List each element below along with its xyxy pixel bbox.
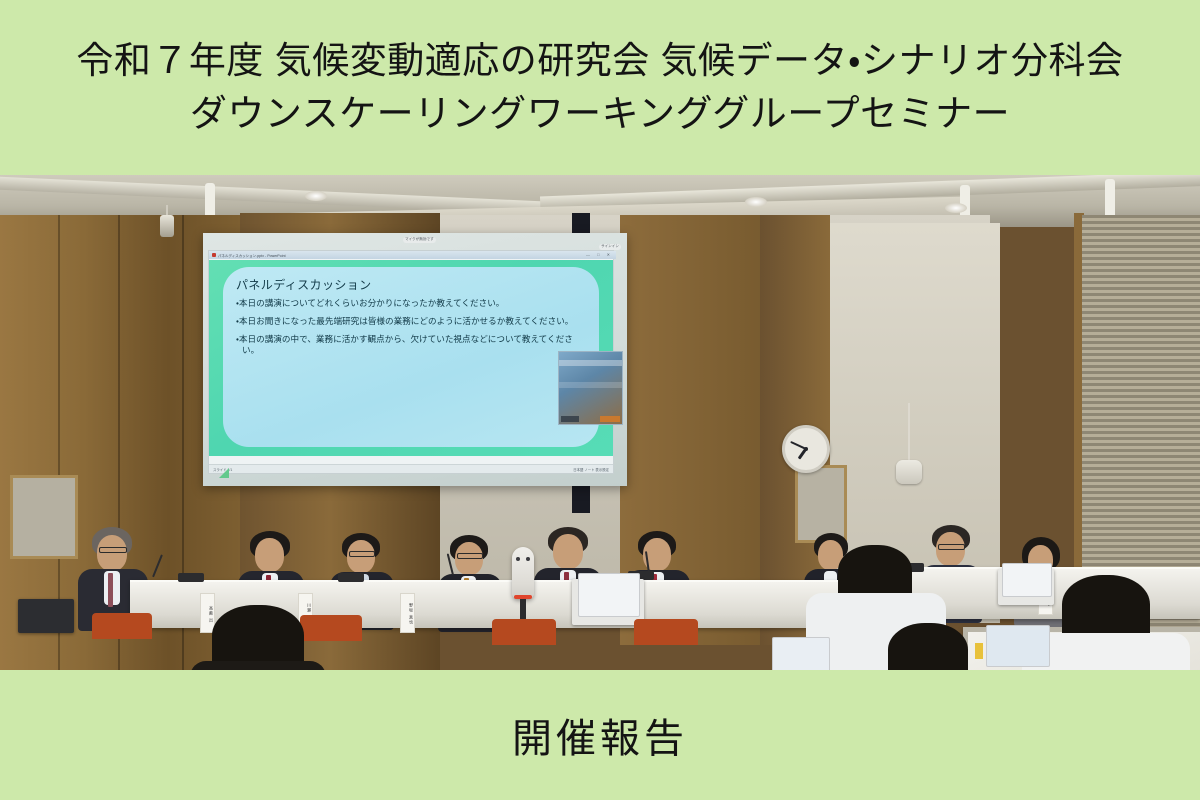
video-conference-thumbnail xyxy=(558,351,623,425)
conference-microphone xyxy=(512,547,534,599)
powerpoint-icon xyxy=(212,253,216,257)
audience-head xyxy=(1062,575,1150,639)
slide-card: パネルディスカッション ・本日の講演についてどれくらいお分かりになったか教えてく… xyxy=(223,267,599,447)
slide-bullet: ・本日の講演についてどれくらいお分かりになったか教えてください。 xyxy=(236,299,588,310)
powerpoint-window-title: パネルディスカッション.pptx - PowerPoint xyxy=(218,253,286,258)
laptop-screen xyxy=(986,625,1050,667)
screen-chip-signin: サインイン xyxy=(599,244,621,250)
wall-clock xyxy=(782,425,830,473)
slide-title: パネルディスカッション xyxy=(236,276,588,293)
wall-vent xyxy=(795,465,847,543)
title-line-2: ダウンスケーリングワーキンググループセミナー xyxy=(190,95,1010,134)
chair xyxy=(634,619,698,645)
desk-microphone xyxy=(178,573,204,582)
nameplate: 野坂 真也 xyxy=(400,593,415,633)
page-title: 令和７年度 気候変動適応の研究会 気候データ・シナリオ分科会 ダウンスケーリング… xyxy=(0,0,1200,175)
audience-head xyxy=(888,623,968,670)
chair xyxy=(300,615,362,641)
wall-vent xyxy=(10,475,78,559)
powerpoint-titlebar: パネルディスカッション.pptx - PowerPoint — □ ✕ xyxy=(209,251,616,259)
whiteboard-magnet xyxy=(975,643,983,659)
slide-bullet: ・本日の講演の中で、業務に活かす観点から、欠けていた視点などについて教えてくださ… xyxy=(236,335,588,357)
slide-stage: パネルディスカッション ・本日の講演についてどれくらいお分かりになったか教えてく… xyxy=(209,260,613,456)
view-options: 日本語 ノート 表示設定 xyxy=(573,467,609,472)
title-line-1: 令和７年度 気候変動適応の研究会 気候データ・シナリオ分科会 xyxy=(76,42,1123,81)
powerpoint-window: パネルディスカッション.pptx - PowerPoint — □ ✕ パネルデ… xyxy=(208,250,614,474)
powerpoint-statusbar: スライド 1/1 日本語 ノート 表示設定 xyxy=(209,464,613,473)
projector-screen: マイクが無効です サインイン パネルディスカッション.pptx - PowerP… xyxy=(203,233,627,486)
ceiling-downlight xyxy=(745,197,767,207)
caption-text: 開催報告 xyxy=(512,706,688,764)
chair xyxy=(92,613,152,639)
laptop-screen xyxy=(578,573,640,617)
window-controls: — □ ✕ xyxy=(586,252,613,257)
seminar-photo: マイクが無効です サインイン パネルディスカッション.pptx - PowerP… xyxy=(0,175,1200,670)
audience-body xyxy=(190,661,326,670)
ceiling-downlight xyxy=(945,203,967,213)
speaker-wire xyxy=(908,403,910,461)
caption: 開催報告 xyxy=(0,670,1200,800)
laptop-screen xyxy=(1002,563,1052,597)
ceiling-downlight xyxy=(305,191,327,201)
report-page: 令和７年度 気候変動適応の研究会 気候データ・シナリオ分科会 ダウンスケーリング… xyxy=(0,0,1200,800)
laptop-screen xyxy=(772,637,830,670)
ceiling-speaker-icon xyxy=(896,460,922,484)
screen-chip-mic: マイクが無効です xyxy=(403,237,436,243)
spotlight xyxy=(160,215,174,237)
desk-microphone xyxy=(338,573,364,582)
chair xyxy=(492,619,556,645)
slide-counter: スライド 1/1 xyxy=(213,467,232,472)
slide-bullet: ・本日お聞きになった最先端研究は皆様の業務にどのように活かせるか教えてください。 xyxy=(236,317,588,328)
laptop xyxy=(18,599,74,633)
